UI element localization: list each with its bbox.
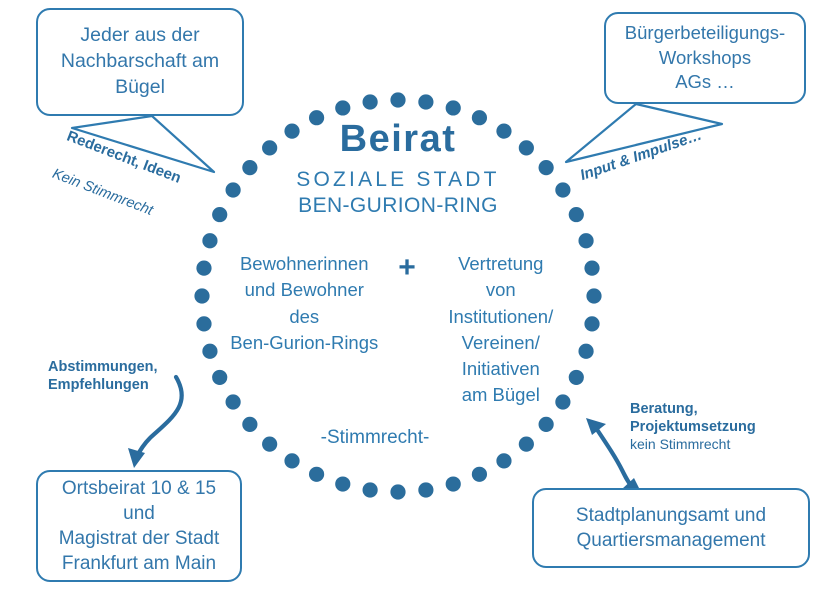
ring-dot [194,288,209,303]
bubble-neighborhood[interactable]: Jeder aus der Nachbarschaft am Bügel [36,8,244,116]
ring-dot [196,261,211,276]
ring-dot [519,437,534,452]
diagram-canvas: Beirat SOZIALE STADT BEN-GURION-RING Bew… [0,0,820,600]
bubble-neighborhood-text: Jeder aus der Nachbarschaft am Bügel [53,23,227,100]
ring-dot [569,207,584,222]
label-beratung-bold: Beratung, Projektumsetzung [630,400,756,436]
ring-dot [446,100,461,115]
arrowhead-beratung-up [586,418,606,435]
label-beratung: Beratung, Projektumsetzung kein Stimmrec… [630,400,756,454]
box-stadtplanungsamt[interactable]: Stadtplanungsamt und Quartiersmanagement [532,488,810,568]
ring-dot [472,110,487,125]
ring-dot [539,160,554,175]
ring-dot [586,288,601,303]
ring-dot [555,182,570,197]
ring-dot [578,344,593,359]
label-beratung-normal: kein Stimmrecht [630,436,756,454]
ring-dot [226,182,241,197]
bubble-participation-text: Bürgerbeteiligungs- Workshops AGs … [617,21,793,94]
ring-dot [418,94,433,109]
ring-dot [584,316,599,331]
ring-dot [363,94,378,109]
ring-dot [569,370,584,385]
ring-dot [418,482,433,497]
box-ortsbeirat[interactable]: Ortsbeirat 10 & 15 und Magistrat der Sta… [36,470,242,582]
ring-dot [539,417,554,432]
ring-dot [284,453,299,468]
box-stadtplanungsamt-text: Stadtplanungsamt und Quartiersmanagement [568,503,774,553]
ring-dot [202,344,217,359]
ring-dot [196,316,211,331]
ring-of-dots [194,92,601,499]
ring-dot [578,233,593,248]
ring-dot [584,261,599,276]
ring-dot [202,233,217,248]
bubble-participation[interactable]: Bürgerbeteiligungs- Workshops AGs … [604,12,806,104]
ring-dot [212,370,227,385]
ring-dot [519,140,534,155]
ring-dot [242,417,257,432]
ring-dot [309,467,324,482]
ring-dot [472,467,487,482]
ring-dot [390,484,405,499]
box-ortsbeirat-text: Ortsbeirat 10 & 15 und Magistrat der Sta… [51,476,228,576]
ring-dot [496,124,511,139]
ring-dot [309,110,324,125]
ring-dot [446,476,461,491]
ring-dot [262,437,277,452]
label-abstimmungen: Abstimmungen, Empfehlungen [48,358,158,394]
ring-dot [262,140,277,155]
ring-dot [390,92,405,107]
ring-dot [212,207,227,222]
ring-dot [226,394,241,409]
ring-dot [335,476,350,491]
ring-dot [555,394,570,409]
ring-dot [496,453,511,468]
ring-dot [284,124,299,139]
ring-dot [363,482,378,497]
label-abstimmungen-text: Abstimmungen, Empfehlungen [48,359,158,393]
arrow-beratung [596,428,632,487]
ring-dot [335,100,350,115]
ring-dot [242,160,257,175]
arrowhead-ortsbeirat [128,448,145,468]
